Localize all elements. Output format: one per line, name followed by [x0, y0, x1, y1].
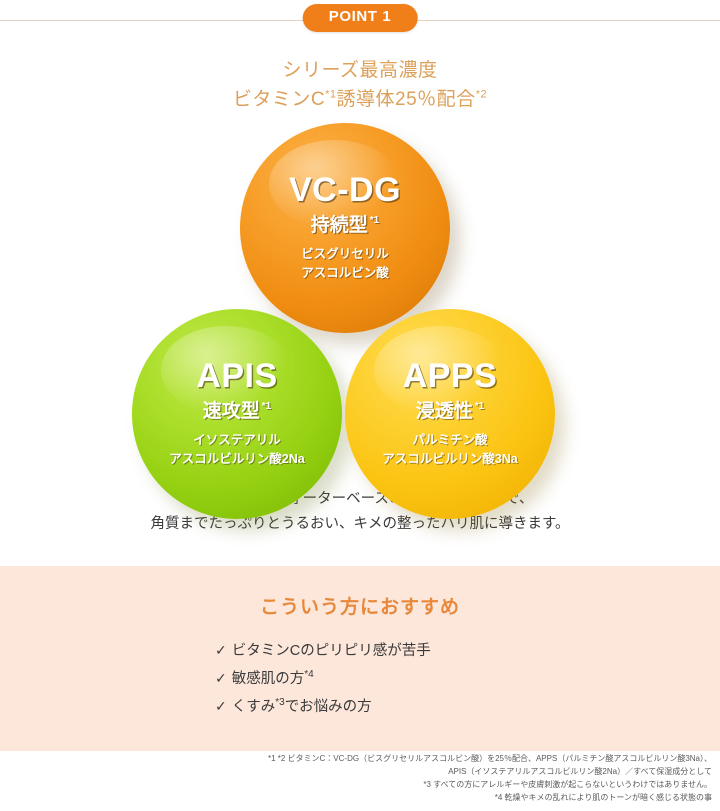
check-icon: ✓ — [215, 665, 227, 692]
footnote-line-1: *1 *2 ビタミンC：VC-DG（ビスグリセリルアスコルビン酸）を25％配合、… — [268, 753, 712, 766]
gel-ingredients-apis: イソステアリル アスコルビルリン酸2Na — [169, 431, 304, 470]
headline: シリーズ最高濃度 ビタミンC*1誘導体25％配合*2 — [0, 56, 720, 115]
recommend-item-text-1: ビタミンCのピリピリ感が苦手 — [232, 643, 431, 659]
gel-type-apps: 浸透性*1 — [416, 402, 484, 421]
list-item: ✓ビタミンCのピリピリ感が苦手 — [215, 637, 455, 665]
gel-ingredients-apps: パルミチン酸 アスコルビルリン酸3Na — [382, 431, 517, 470]
product-description-line-1: みずみずしいウォーターベースのクリアな美容液で、 — [0, 487, 720, 512]
gel-ingredient-line-2-apis: アスコルビルリン酸2Na — [169, 450, 304, 469]
headline-footnote-mark-1: *1 — [325, 89, 336, 101]
gel-type-text-apps: 浸透性 — [416, 401, 473, 422]
point-header: POINT 1 — [0, 0, 720, 44]
gel-ingredient-line-1-apps: パルミチン酸 — [382, 431, 517, 450]
gel-type-footnote-mark-vc-dg: *1 — [370, 215, 379, 226]
headline-line-1: シリーズ最高濃度 — [0, 56, 720, 85]
footnotes: *1 *2 ビタミンC：VC-DG（ビスグリセリルアスコルビン酸）を25％配合、… — [268, 753, 712, 805]
gel-circle-vc-dg: VC-DG 持続型*1 ビスグリセリル アスコルビン酸 — [240, 123, 450, 333]
recommend-item-footnote-mark-3: *3 — [275, 697, 284, 708]
gel-name-apis: APIS — [196, 359, 277, 393]
gel-type-footnote-mark-apis: *1 — [262, 401, 271, 412]
gel-ingredient-line-2-vc-dg: アスコルビン酸 — [301, 264, 389, 283]
gel-type-text-apis: 速攻型 — [203, 401, 260, 422]
product-description-line-2: 角質までたっぷりとうるおい、キメの整ったハリ肌に導きます。 — [0, 512, 720, 537]
gel-circles-group: VC-DG 持続型*1 ビスグリセリル アスコルビン酸 APIS 速攻型*1 イ… — [0, 123, 720, 483]
gel-type-vc-dg: 持続型*1 — [311, 216, 379, 235]
gel-name-apps: APPS — [403, 359, 498, 393]
gel-ingredients-vc-dg: ビスグリセリル アスコルビン酸 — [301, 245, 389, 284]
recommend-list: ✓ビタミンCのピリピリ感が苦手 ✓敏感肌の方*4 ✓くすみ*3でお悩みの方 — [215, 637, 455, 722]
recommend-item-text-3a: くすみ — [232, 699, 276, 715]
check-icon: ✓ — [215, 637, 227, 664]
headline-line-2: ビタミンC*1誘導体25％配合*2 — [0, 85, 720, 114]
recommend-item-text-3b: でお悩みの方 — [285, 699, 372, 715]
footnote-line-4: *4 乾燥やキメの乱れにより肌のトーンが暗く感じる状態の事 — [268, 792, 712, 805]
recommend-panel: こういう方におすすめ ✓ビタミンCのピリピリ感が苦手 ✓敏感肌の方*4 ✓くすみ… — [0, 566, 720, 752]
list-item: ✓敏感肌の方*4 — [215, 665, 455, 693]
footnote-line-3: *3 すべての方にアレルギーや皮膚刺激が起こらないというわけではありません。 — [268, 779, 712, 792]
product-description: みずみずしいウォーターベースのクリアな美容液で、 角質までたっぷりとうるおい、キ… — [0, 487, 720, 538]
headline-line-2-text-b: 誘導体25％配合 — [337, 89, 476, 110]
gel-type-text-vc-dg: 持続型 — [311, 215, 368, 236]
gel-type-footnote-mark-apps: *1 — [475, 401, 484, 412]
point-badge: POINT 1 — [303, 4, 418, 32]
headline-line-2-text-a: ビタミンC — [233, 89, 325, 110]
gel-circle-apis: APIS 速攻型*1 イソステアリル アスコルビルリン酸2Na — [132, 309, 342, 519]
footnote-line-2: APIS（イソステアリルアスコルビルリン酸2Na）／すべて保湿成分として — [268, 766, 712, 779]
gel-ingredient-line-2-apps: アスコルビルリン酸3Na — [382, 450, 517, 469]
check-icon: ✓ — [215, 693, 227, 720]
headline-footnote-mark-2: *2 — [476, 89, 487, 101]
recommend-panel-title: こういう方におすすめ — [0, 592, 720, 619]
list-item: ✓くすみ*3でお悩みの方 — [215, 693, 455, 721]
gel-type-apis: 速攻型*1 — [203, 402, 271, 421]
recommend-item-text-2: 敏感肌の方 — [232, 671, 305, 687]
gel-name-vc-dg: VC-DG — [289, 173, 401, 207]
gel-ingredient-line-1-vc-dg: ビスグリセリル — [301, 245, 389, 264]
gel-ingredient-line-1-apis: イソステアリル — [169, 431, 304, 450]
recommend-item-footnote-mark-2: *4 — [304, 669, 313, 680]
gel-circle-apps: APPS 浸透性*1 パルミチン酸 アスコルビルリン酸3Na — [345, 309, 555, 519]
